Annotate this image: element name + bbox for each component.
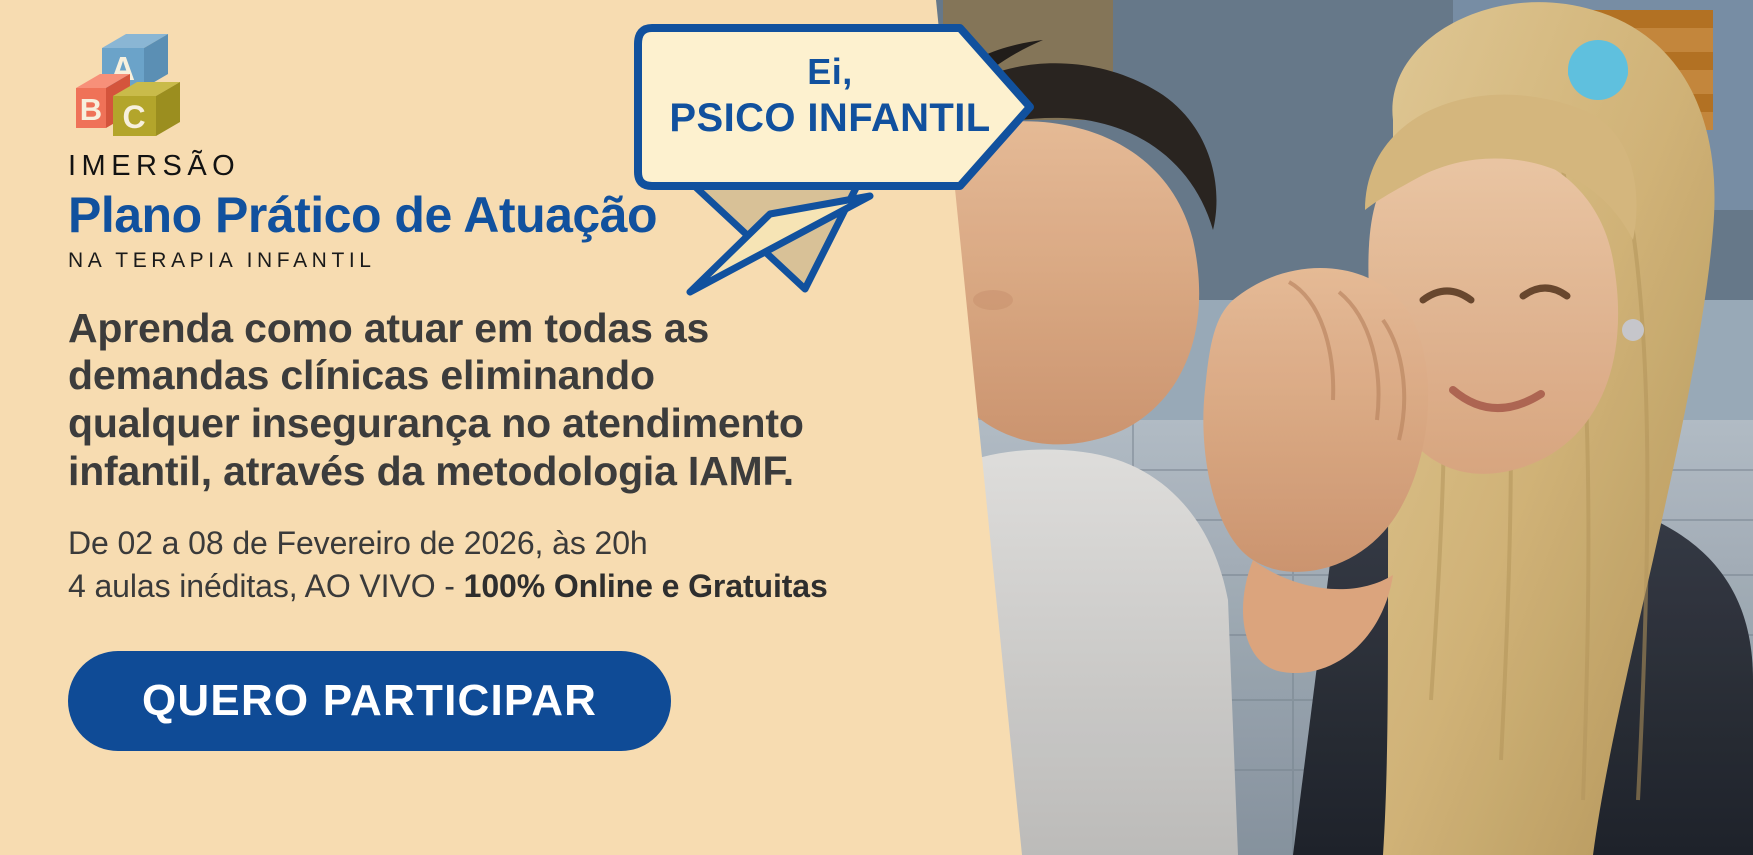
svg-text:B: B	[80, 92, 102, 127]
classes-highlight: 100% Online e Gratuitas	[464, 568, 828, 604]
speech-bubble: Ei, PSICO INFANTIL	[630, 14, 1060, 304]
bubble-body	[638, 28, 1030, 186]
classes-prefix: 4 aulas inéditas, AO VIVO -	[68, 568, 464, 604]
cta-quero-participar-button[interactable]: QUERO PARTICIPAR	[68, 651, 671, 751]
event-date-line: De 02 a 08 de Fevereiro de 2026, às 20h	[68, 522, 960, 565]
event-classes-line: 4 aulas inéditas, AO VIVO - 100% Online …	[68, 565, 960, 608]
svg-text:C: C	[122, 99, 145, 135]
event-info: De 02 a 08 de Fevereiro de 2026, às 20h …	[68, 522, 960, 607]
abc-blocks-logo: A B C	[68, 26, 188, 138]
promotional-banner: A B C IMERSÃO Plano Práti	[0, 0, 1753, 855]
lead-paragraph: Aprenda como atuar em todas as demandas …	[68, 305, 828, 497]
